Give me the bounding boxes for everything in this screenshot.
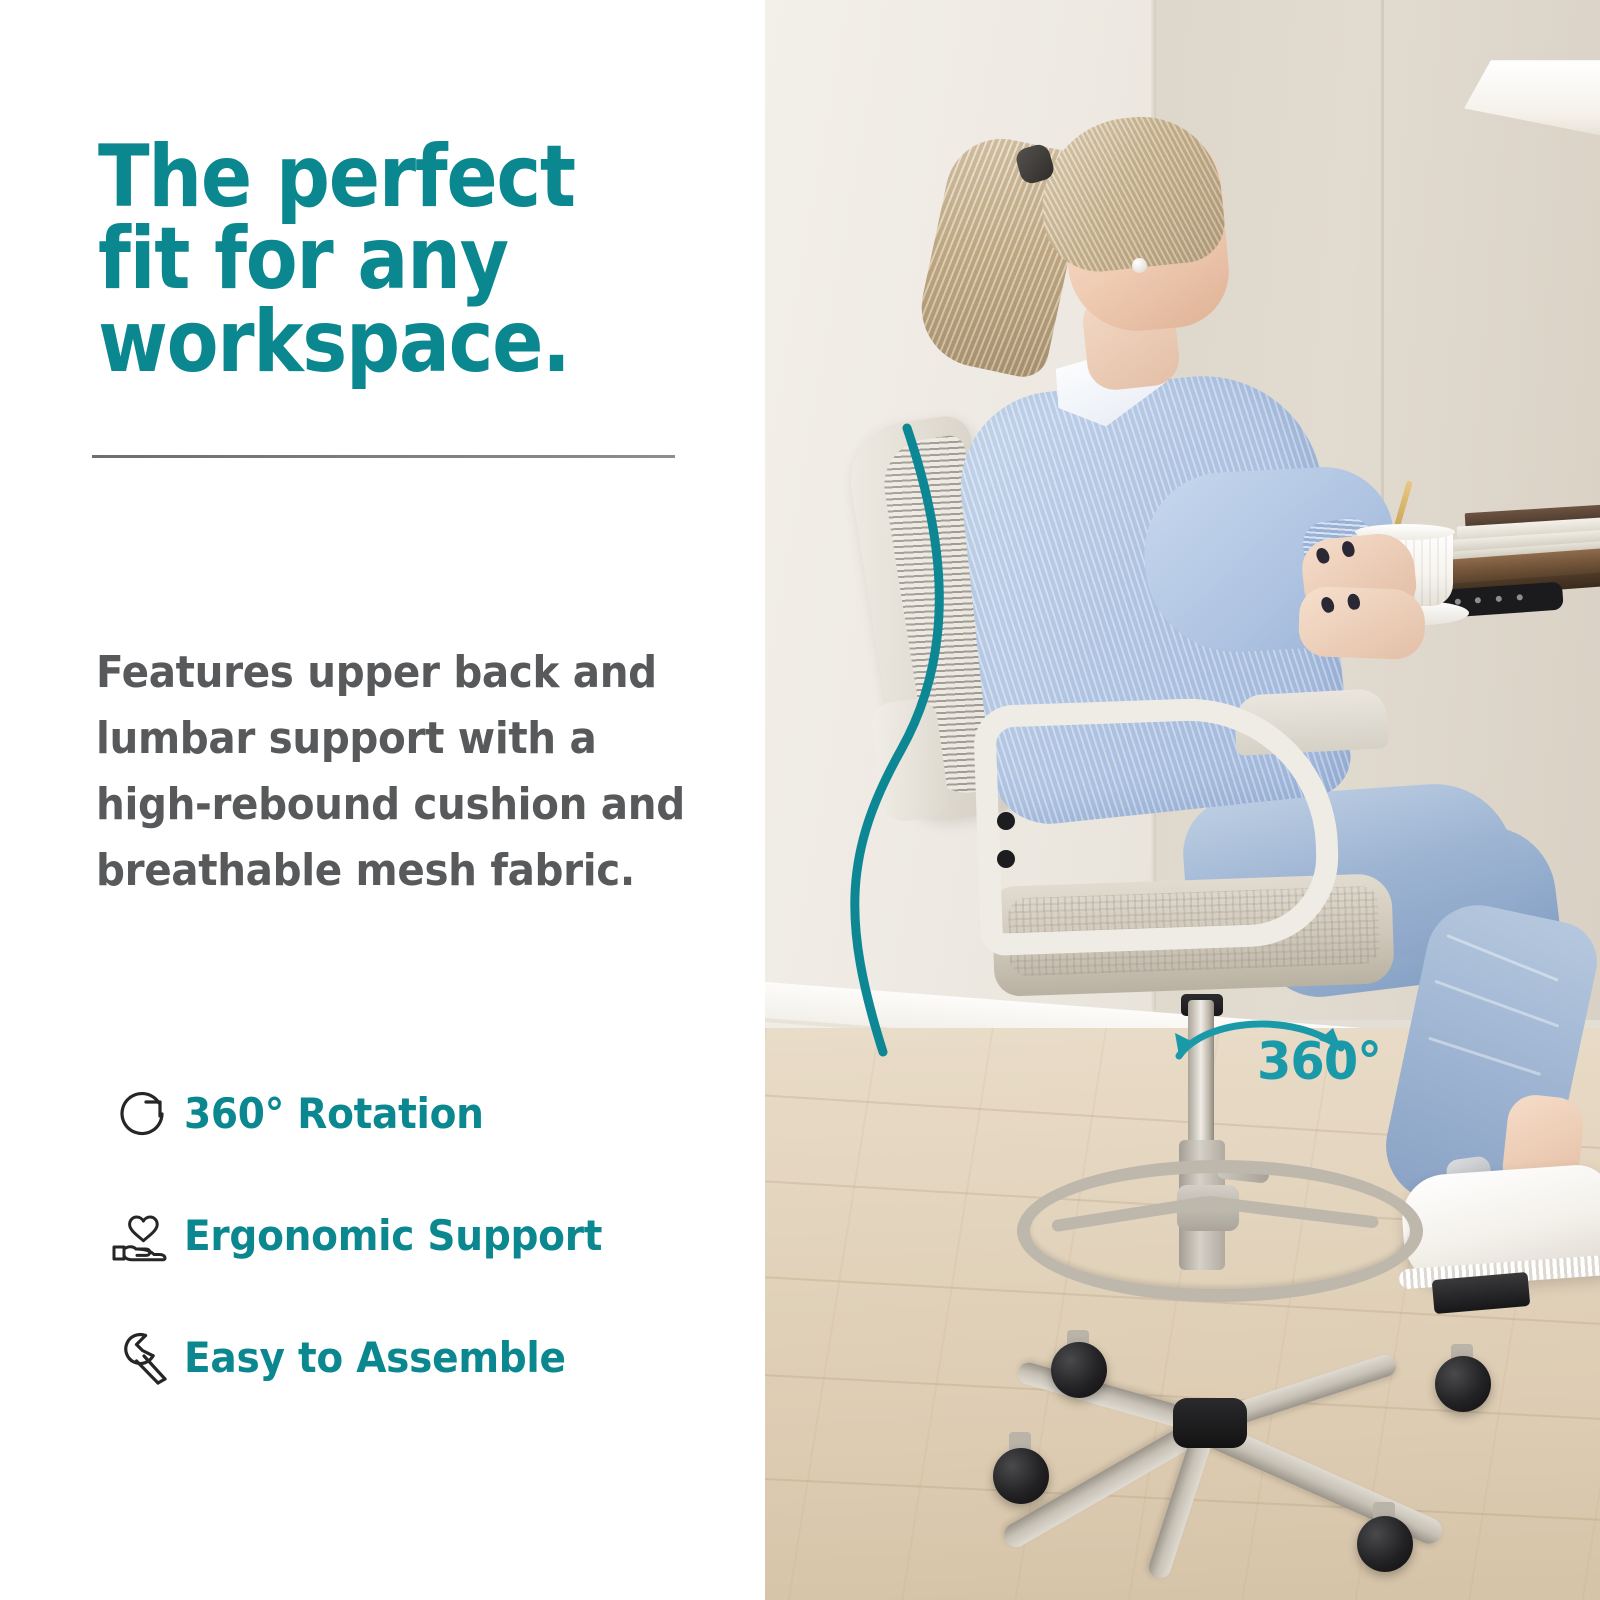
rotation-arrow-icon [100,1071,184,1155]
caster-wheel [1357,1516,1413,1572]
earring [1132,258,1147,273]
wrench-icon [100,1315,184,1399]
feature-list: 360° Rotation Ergonomic Support [100,1052,740,1418]
list-item: Easy to Assemble [100,1296,740,1418]
page-title: The perfect fit for any workspace. [98,136,644,384]
list-item: Ergonomic Support [100,1174,740,1296]
person-hand-lower [1298,586,1426,660]
product-feature-banner: The perfect fit for any workspace. Featu… [0,0,1600,1600]
list-item-label: Easy to Assemble [184,1333,566,1382]
caster-wheel [1051,1342,1107,1398]
list-item-label: Ergonomic Support [184,1211,602,1260]
chair-footring [1017,1160,1423,1302]
chair-frame-holes [997,812,1017,882]
product-photo: 360° [765,0,1600,1600]
list-item-label: 360° Rotation [184,1089,484,1138]
caster-wheel [1435,1356,1491,1412]
rotation-label: 360° [1257,1032,1381,1092]
body-copy: Features upper back and lumbar support w… [96,640,685,904]
left-text-panel: The perfect fit for any workspace. Featu… [0,0,765,1600]
list-item: 360° Rotation [100,1052,740,1174]
hand-heart-icon [100,1193,184,1277]
divider [92,455,675,458]
caster-wheel [993,1448,1049,1504]
wall-seam [1381,0,1384,560]
base-hub [1173,1398,1247,1448]
